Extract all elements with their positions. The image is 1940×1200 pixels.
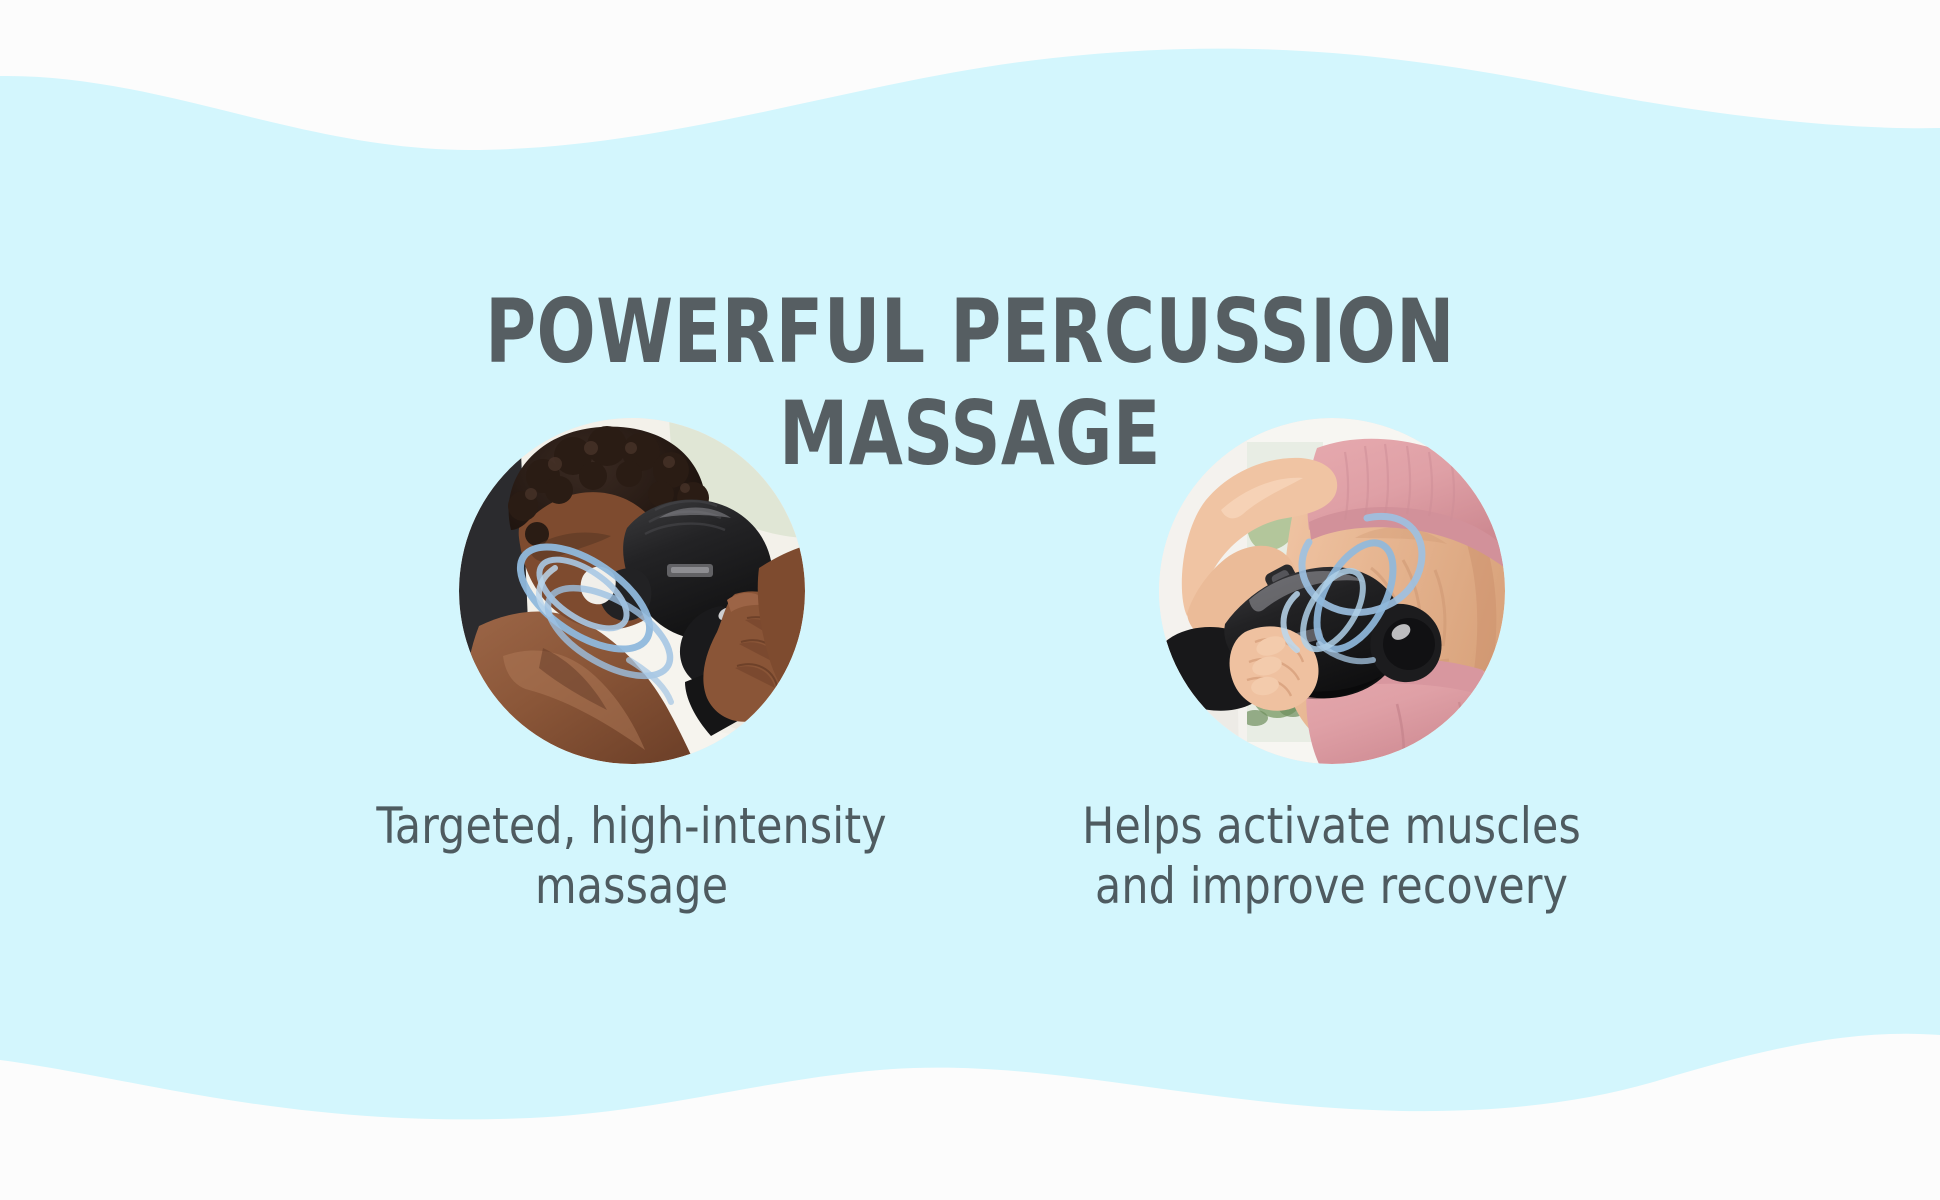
page-title-line-1: POWERFUL PERCUSSION: [116, 281, 1823, 383]
feature-photo-neck-massage: [459, 418, 805, 764]
feature-photo-abdomen-massage: [1159, 418, 1505, 764]
caption-line-1: Targeted, high-intensity: [377, 796, 887, 856]
abdomen-massage-photo-illustration: [1159, 418, 1505, 764]
feature-row: Targeted, high-intensity massage: [270, 418, 1670, 916]
feature-caption-targeted-massage: Targeted, high-intensity massage: [377, 796, 887, 916]
neck-massage-photo-illustration: [459, 418, 805, 764]
feature-targeted-massage: Targeted, high-intensity massage: [322, 418, 942, 916]
feature-activate-muscles: Helps activate muscles and improve recov…: [1022, 418, 1642, 916]
caption-line-2: and improve recovery: [1083, 856, 1582, 916]
promo-banner: POWERFUL PERCUSSION MASSAGE: [0, 0, 1940, 1200]
caption-line-2: massage: [377, 856, 887, 916]
caption-line-1: Helps activate muscles: [1083, 796, 1582, 856]
feature-caption-activate-muscles: Helps activate muscles and improve recov…: [1083, 796, 1582, 916]
